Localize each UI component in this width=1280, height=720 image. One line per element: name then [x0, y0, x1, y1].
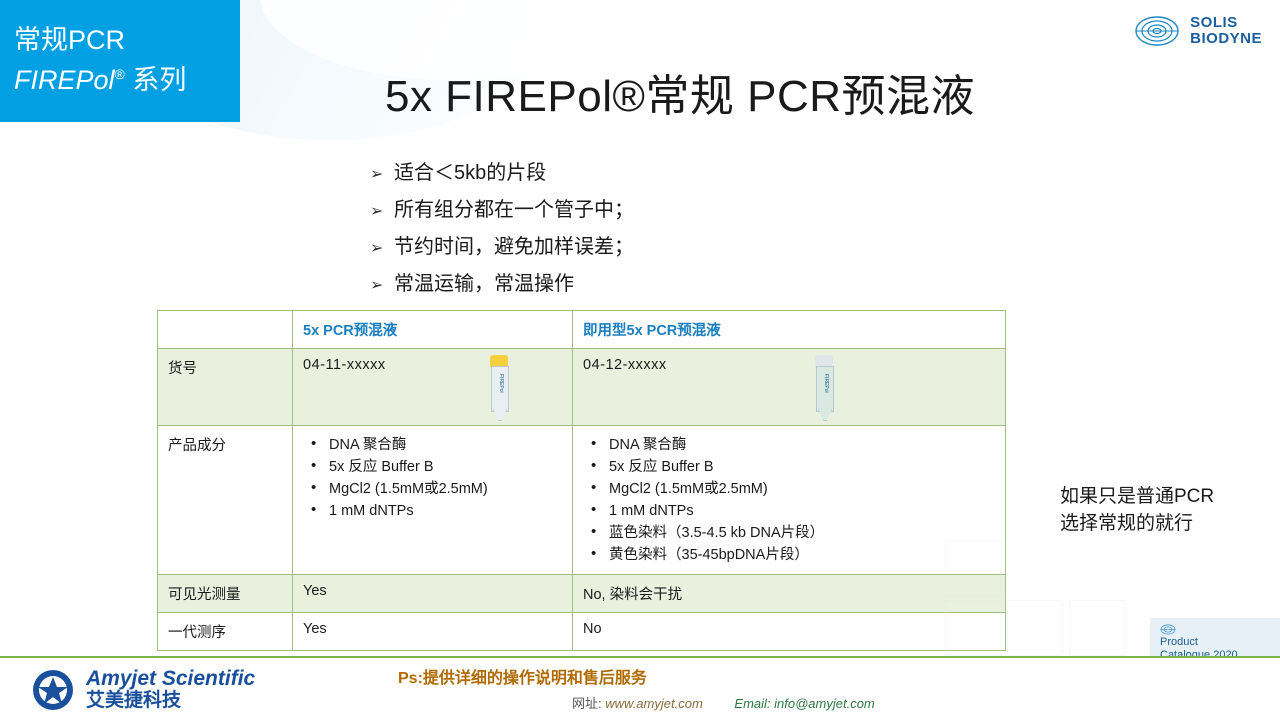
row-label-catalog: 货号	[158, 349, 293, 426]
catalogue-title-line1: Product	[1160, 636, 1238, 649]
corner-tag-product: FIREPol	[14, 65, 115, 95]
arrow-bullet-icon: ➢	[370, 232, 394, 264]
list-item: ➢ 节约时间，避免加样误差；	[370, 232, 634, 264]
side-note-line2: 选择常规的就行	[1060, 510, 1214, 537]
catalog-number-readytouse: 04-12-xxxxx FIREPol	[573, 349, 1006, 426]
tube-label-text: FIREPol	[498, 374, 504, 393]
table-row-sequencing: 一代测序 Yes No	[158, 613, 1006, 651]
solis-logo-text: SOLIS BIODYNE	[1190, 15, 1262, 47]
footer-bar: Amyjet Scientific 艾美捷科技 Ps:提供详细的操作说明和售后服…	[0, 656, 1280, 720]
list-item: 1 mM dNTPs	[583, 500, 995, 522]
corner-tag-line2: FIREPol® 系列	[14, 58, 186, 97]
visible-light-premix: Yes	[293, 575, 573, 613]
row-label-visible-light: 可见光测量	[158, 575, 293, 613]
catalog-number-value: 04-11-xxxxx	[303, 357, 386, 373]
page-title: 5x FIREPol®常规 PCR预混液	[300, 60, 1060, 124]
sequencing-premix: Yes	[293, 613, 573, 651]
list-item: ➢ 常温运输，常温操作	[370, 269, 634, 301]
footer-website-label: 网址:	[572, 696, 602, 711]
composition-readytouse: DNA 聚合酶 5x 反应 Buffer B MgCl2 (1.5mM或2.5m…	[573, 426, 1006, 575]
list-item: 5x 反应 Buffer B	[303, 456, 562, 478]
footer-website-url[interactable]: www.amyjet.com	[605, 696, 703, 711]
watermark-shape	[1007, 600, 1063, 656]
watermark-shape	[1069, 600, 1125, 656]
table-row-catalog-number: 货号 04-11-xxxxx FIREPol 04-12-xxxxx	[158, 349, 1006, 426]
arrow-bullet-icon: ➢	[370, 269, 394, 301]
solis-mark-icon	[1134, 14, 1180, 48]
catalog-number-value: 04-12-xxxxx	[583, 357, 667, 373]
list-item: ➢ 所有组分都在一个管子中；	[370, 195, 634, 227]
solis-logo-line1: SOLIS	[1190, 14, 1238, 31]
list-item: 黄色染料（35-45bpDNA片段）	[583, 544, 995, 566]
bullet-text: 所有组分都在一个管子中；	[394, 195, 634, 225]
amyjet-logo-text: Amyjet Scientific 艾美捷科技	[86, 667, 255, 712]
amyjet-mark-icon	[30, 668, 76, 712]
header-cell-premix: 5x PCR预混液	[293, 311, 573, 349]
bullet-text: 适合＜5kb的片段	[394, 158, 546, 188]
list-item: ➢ 适合＜5kb的片段	[370, 158, 634, 190]
solis-biodyne-logo: SOLIS BIODYNE	[1134, 14, 1262, 48]
amyjet-logo: Amyjet Scientific 艾美捷科技	[30, 667, 255, 712]
composition-premix: DNA 聚合酶 5x 反应 Buffer B MgCl2 (1.5mM或2.5m…	[293, 426, 573, 575]
tube-label-text: FIREPol	[823, 374, 829, 393]
sequencing-readytouse: No	[573, 613, 1006, 651]
solis-logo-line2: BIODYNE	[1190, 30, 1262, 47]
table-row-visible-light: 可见光测量 Yes No, 染料会干扰	[158, 575, 1006, 613]
list-item: DNA 聚合酶	[583, 434, 995, 456]
row-label-sequencing: 一代测序	[158, 613, 293, 651]
footer-ps-text: Ps:提供详细的操作说明和售后服务	[398, 664, 647, 688]
side-note: 如果只是普通PCR 选择常规的就行	[1060, 483, 1214, 537]
watermark-shape	[945, 540, 1001, 596]
list-item: MgCl2 (1.5mM或2.5mM)	[583, 478, 995, 500]
amyjet-name-cn: 艾美捷科技	[86, 690, 181, 711]
amyjet-name-en: Amyjet Scientific	[86, 667, 255, 690]
header-cell-blank	[158, 311, 293, 349]
watermark-shape	[945, 600, 1001, 656]
table-row-composition: 产品成分 DNA 聚合酶 5x 反应 Buffer B MgCl2 (1.5mM…	[158, 426, 1006, 575]
bullet-text: 节约时间，避免加样误差；	[394, 232, 634, 262]
row-label-composition: 产品成分	[158, 426, 293, 575]
bullet-list: ➢ 适合＜5kb的片段 ➢ 所有组分都在一个管子中； ➢ 节约时间，避免加样误差…	[370, 158, 634, 306]
corner-tag-registered: ®	[115, 66, 125, 82]
list-item: MgCl2 (1.5mM或2.5mM)	[303, 478, 562, 500]
bullet-text: 常温运输，常温操作	[394, 269, 574, 299]
catalogue-logo-icon	[1160, 622, 1176, 633]
footer-contact: 网址: www.amyjet.com Email: info@amyjet.co…	[572, 693, 875, 712]
list-item: 5x 反应 Buffer B	[583, 456, 995, 478]
corner-tag-line1: 常规PCR	[14, 18, 125, 57]
list-item: 蓝色染料（3.5-4.5 kb DNA片段）	[583, 522, 995, 544]
corner-tag: 常规PCR FIREPol® 系列	[0, 0, 240, 122]
arrow-bullet-icon: ➢	[370, 195, 394, 227]
header-cell-readytouse: 即用型5x PCR预混液	[573, 311, 1006, 349]
table-header-row: 5x PCR预混液 即用型5x PCR预混液	[158, 311, 1006, 349]
comparison-table: 5x PCR预混液 即用型5x PCR预混液 货号 04-11-xxxxx FI…	[157, 310, 1006, 651]
side-note-line1: 如果只是普通PCR	[1060, 483, 1214, 510]
list-item: DNA 聚合酶	[303, 434, 562, 456]
catalog-number-premix: 04-11-xxxxx FIREPol	[293, 349, 573, 426]
corner-tag-series: 系列	[125, 65, 187, 95]
arrow-bullet-icon: ➢	[370, 158, 394, 190]
visible-light-readytouse: No, 染料会干扰	[573, 575, 1006, 613]
list-item: 1 mM dNTPs	[303, 500, 562, 522]
footer-email[interactable]: Email: info@amyjet.com	[734, 696, 874, 711]
